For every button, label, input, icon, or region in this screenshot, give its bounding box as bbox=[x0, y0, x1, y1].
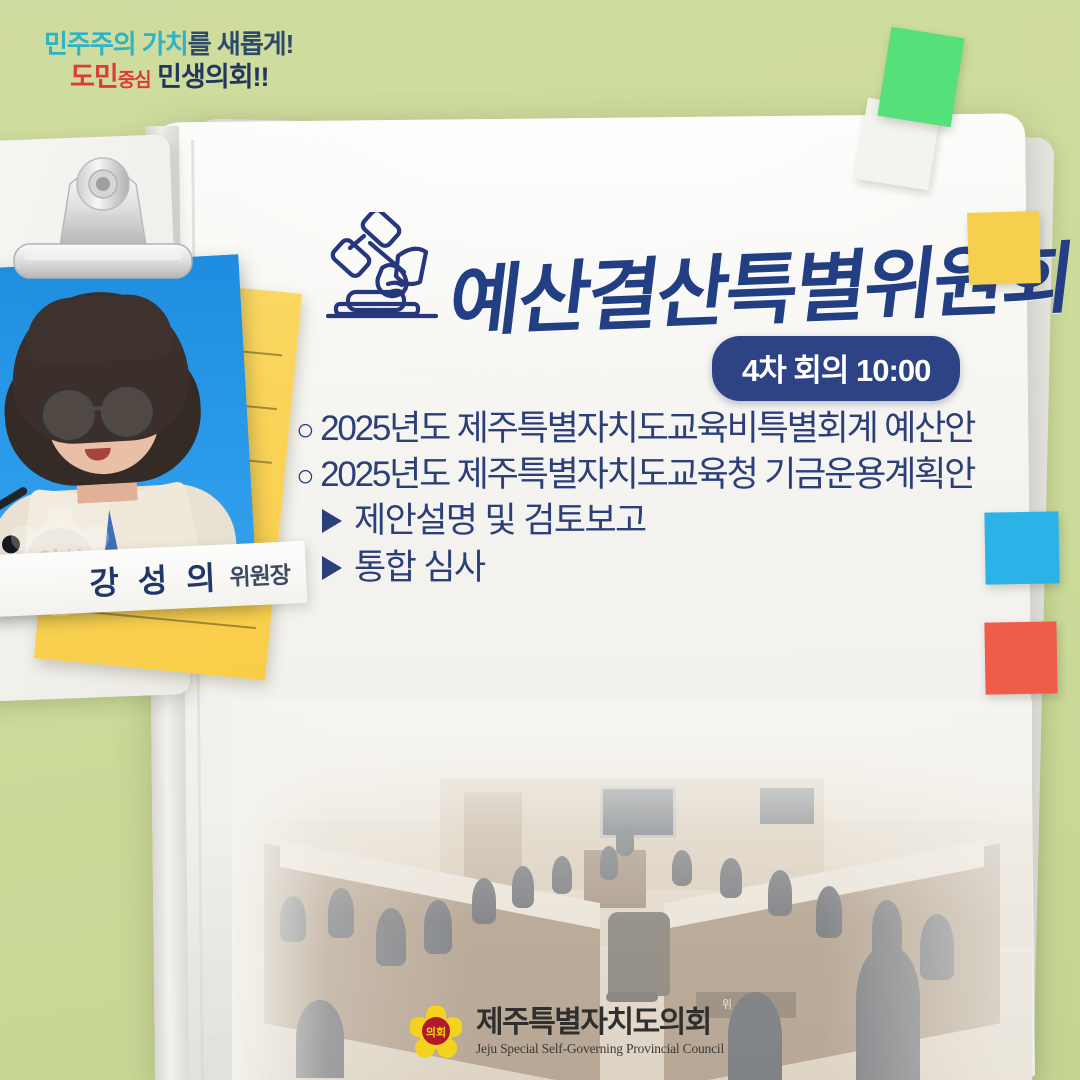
footer-branding: 의회 제주특별자치도의회 Jeju Special Self-Governing… bbox=[410, 1006, 724, 1058]
sticky-tab-blue[interactable] bbox=[984, 511, 1059, 584]
council-emblem-icon: 의회 bbox=[410, 1006, 462, 1058]
brand-line-2-navy: 민생의회!! bbox=[157, 62, 268, 92]
meeting-badge: 4차 회의 10:00 bbox=[712, 336, 960, 401]
brand-line-2: 도민중심 민생의회!! bbox=[70, 63, 344, 93]
footer-korean-name: 제주특별자치도의회 bbox=[476, 1007, 724, 1039]
brand-line-1: 민주주의 가치를 새롭게! bbox=[44, 30, 344, 59]
brand-line-1-rest: 를 새롭게! bbox=[188, 29, 294, 59]
brand-line-2-red: 도민 bbox=[70, 62, 118, 92]
emblem-text: 의회 bbox=[426, 1025, 446, 1039]
agenda-item-text: 2025년도 제주특별자치도교육청 기금운용계획안 bbox=[320, 455, 974, 494]
gavel-icon bbox=[326, 212, 444, 320]
chairperson-name: 강 성 의 bbox=[88, 553, 221, 605]
triangle-bullet-icon bbox=[322, 509, 342, 533]
sticky-tab-yellow[interactable] bbox=[967, 211, 1041, 285]
agenda-item-text: 2025년도 제주특별자치도교육비특별회계 예산안 bbox=[320, 409, 974, 448]
agenda-sub-item-text: 제안설명 및 검토보고 bbox=[354, 497, 646, 544]
agenda-item: ○ 2025년도 제주특별자치도교육청 기금운용계획안 bbox=[296, 452, 974, 498]
footer-english-name: Jeju Special Self-Governing Provincial C… bbox=[476, 1041, 724, 1057]
agenda-bullet-ring: ○ bbox=[296, 458, 313, 493]
agenda-sub-item: 제안설명 및 검토보고 bbox=[322, 497, 974, 544]
triangle-bullet-icon bbox=[322, 556, 342, 580]
agenda-item: ○ 2025년도 제주특별자치도교육비특별회계 예산안 bbox=[296, 406, 974, 452]
binder-clip-icon bbox=[8, 148, 198, 298]
brand-line-2-red-small: 중심 bbox=[118, 70, 151, 91]
brand-line-1-highlight: 민주주의 가치 bbox=[44, 29, 188, 59]
agenda-list: ○ 2025년도 제주특별자치도교육비특별회계 예산안 ○ 2025년도 제주특… bbox=[296, 406, 974, 592]
agenda-sub-item: 통합 심사 bbox=[322, 544, 974, 591]
agenda-sub-item-text: 통합 심사 bbox=[354, 544, 485, 591]
sticky-tab-green[interactable] bbox=[877, 27, 964, 127]
agenda-bullet-ring: ○ bbox=[296, 412, 313, 447]
sticky-tab-red[interactable] bbox=[984, 621, 1057, 694]
brand-slogan: 민주주의 가치를 새롭게! 도민중심 민생의회!! bbox=[44, 30, 344, 92]
chairperson-role: 위원장 bbox=[229, 556, 291, 593]
poster-card: 민주주의 가치를 새롭게! 도민중심 민생의회!! 예산결산특별위원회 4차 회… bbox=[0, 0, 1080, 1080]
